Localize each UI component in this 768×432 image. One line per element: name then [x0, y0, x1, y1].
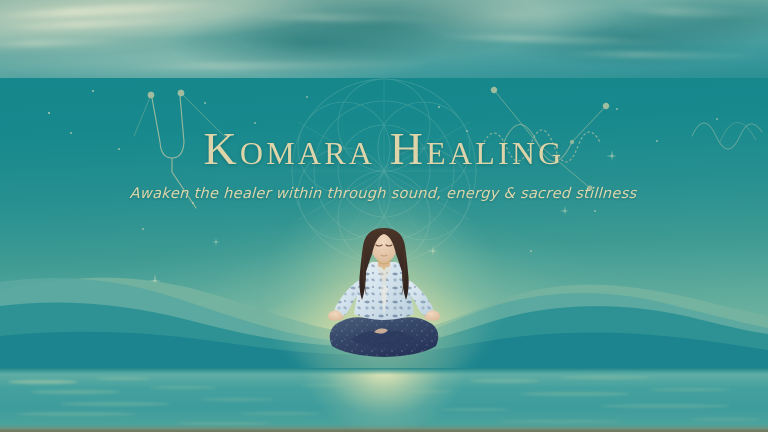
sparkle-star-icon — [204, 102, 206, 104]
title-block: Komara Healing Awaken the healer within … — [0, 126, 768, 202]
shoreline — [0, 368, 768, 375]
sparkle-star-icon — [438, 106, 440, 108]
sky-photo-band — [0, 0, 768, 78]
sparkle-star-icon — [92, 90, 94, 92]
brand-title: Komara Healing — [0, 126, 768, 173]
teal-gradient-stage: Komara Healing Awaken the healer within … — [0, 78, 768, 368]
sparkle-star-icon — [616, 108, 618, 110]
sparkle-star-icon — [716, 118, 718, 120]
sparkle-star-icon — [148, 274, 161, 287]
sparkle-star-icon — [306, 96, 308, 98]
sparkle-star-icon — [48, 112, 50, 114]
hero-banner: Komara Healing Awaken the healer within … — [0, 0, 768, 432]
sparkle-star-icon — [212, 238, 220, 246]
sparkle-star-icon — [142, 228, 144, 230]
sparkle-star-icon — [594, 210, 596, 212]
water-reflection-band — [0, 368, 768, 432]
sparkle-star-icon — [192, 202, 194, 204]
sparkle-star-icon — [530, 250, 532, 252]
brand-tagline: Awaken the healer within through sound, … — [0, 185, 768, 202]
sparkle-star-icon — [560, 206, 569, 215]
meditating-woman-figure — [320, 228, 448, 360]
